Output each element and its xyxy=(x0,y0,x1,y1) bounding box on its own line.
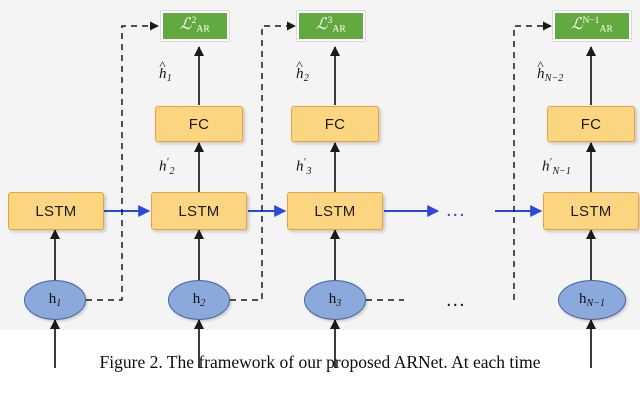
fc-box-tN: FC xyxy=(547,106,635,142)
loss-box-t3: ℒ3AR xyxy=(297,11,365,41)
hidden-state-node-t3: h3 xyxy=(304,280,366,320)
figure-caption: Figure 2. The framework of our proposed … xyxy=(0,352,640,373)
lstm-label-t3: LSTM xyxy=(314,203,355,220)
lstm-box-t1: LSTM xyxy=(8,192,104,230)
figure-root: ℒ2AR ℒ3AR ℒN−1AR h1 h2 hN−2 FC FC FC h′2… xyxy=(0,0,640,402)
lstm-row-ellipsis: ... xyxy=(446,200,466,220)
hidden-state-node-t2: h2 xyxy=(168,280,230,320)
fc-label-tN: FC xyxy=(581,116,602,133)
loss-box-tN: ℒN−1AR xyxy=(553,11,631,41)
hidden-state-label-t3: h3 xyxy=(329,292,342,309)
lstm-label-t2: LSTM xyxy=(178,203,219,220)
loss-label-tN: ℒN−1AR xyxy=(571,17,613,35)
hidden-state-label-t2: h2 xyxy=(193,292,206,309)
h-hat-label-t3: h2 xyxy=(296,66,309,84)
loss-box-t2: ℒ2AR xyxy=(161,11,229,41)
h-hat-label-tN: hN−2 xyxy=(537,66,563,84)
lstm-box-t3: LSTM xyxy=(287,192,383,230)
lstm-box-tN: LSTM xyxy=(543,192,639,230)
fc-box-t3: FC xyxy=(291,106,379,142)
h-hat-label-t2: h1 xyxy=(159,66,172,84)
hidden-state-node-t1: h1 xyxy=(24,280,86,320)
lstm-box-t2: LSTM xyxy=(151,192,247,230)
h-prime-label-t2: h′2 xyxy=(159,157,174,177)
hidden-state-label-tN: hN−1 xyxy=(579,292,605,309)
h-prime-label-tN: h′N−1 xyxy=(542,157,571,177)
loss-label-t2: ℒ2AR xyxy=(180,17,210,35)
fc-label-t2: FC xyxy=(189,116,210,133)
hidden-state-node-tN: hN−1 xyxy=(558,280,626,320)
hidden-row-ellipsis: ... xyxy=(446,290,466,310)
fc-label-t3: FC xyxy=(325,116,346,133)
hidden-state-label-t1: h1 xyxy=(49,292,62,309)
lstm-label-t1: LSTM xyxy=(35,203,76,220)
h-prime-label-t3: h′3 xyxy=(296,157,311,177)
lstm-label-tN: LSTM xyxy=(570,203,611,220)
fc-box-t2: FC xyxy=(155,106,243,142)
loss-label-t3: ℒ3AR xyxy=(316,17,346,35)
